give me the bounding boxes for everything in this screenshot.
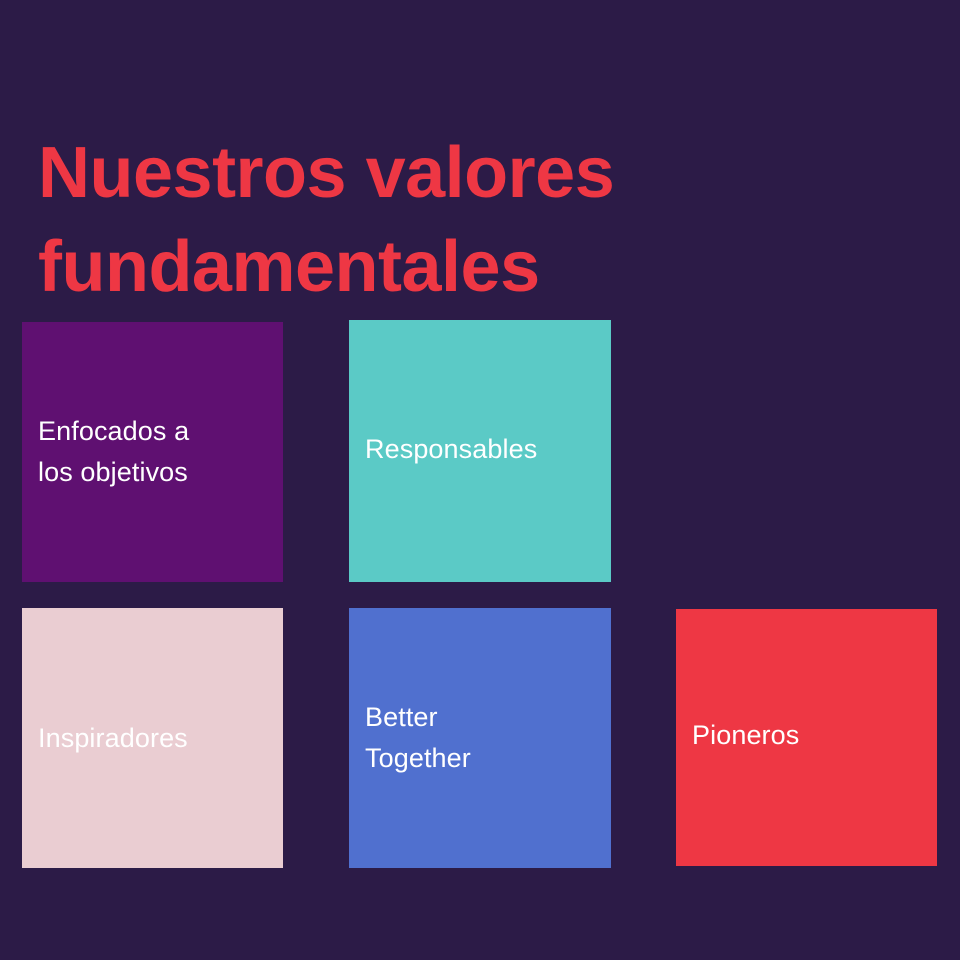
value-card-inspiradores[interactable]: Inspiradores — [22, 608, 283, 868]
value-card-label: Better Together — [349, 697, 487, 779]
values-card-grid: Enfocados a los objetivos Responsables I… — [0, 0, 960, 960]
value-card-better-together[interactable]: Better Together — [349, 608, 611, 868]
value-card-pioneros[interactable]: Pioneros — [676, 609, 937, 866]
values-slide: Nuestros valores fundamentales Enfocados… — [0, 0, 960, 960]
value-card-enfocados-a-los-objetivos[interactable]: Enfocados a los objetivos — [22, 322, 283, 582]
value-card-label: Responsables — [349, 429, 553, 470]
value-card-label: Enfocados a los objetivos — [22, 411, 205, 493]
value-card-label: Inspiradores — [22, 718, 204, 759]
value-card-responsables[interactable]: Responsables — [349, 320, 611, 582]
value-card-label: Pioneros — [676, 715, 815, 756]
